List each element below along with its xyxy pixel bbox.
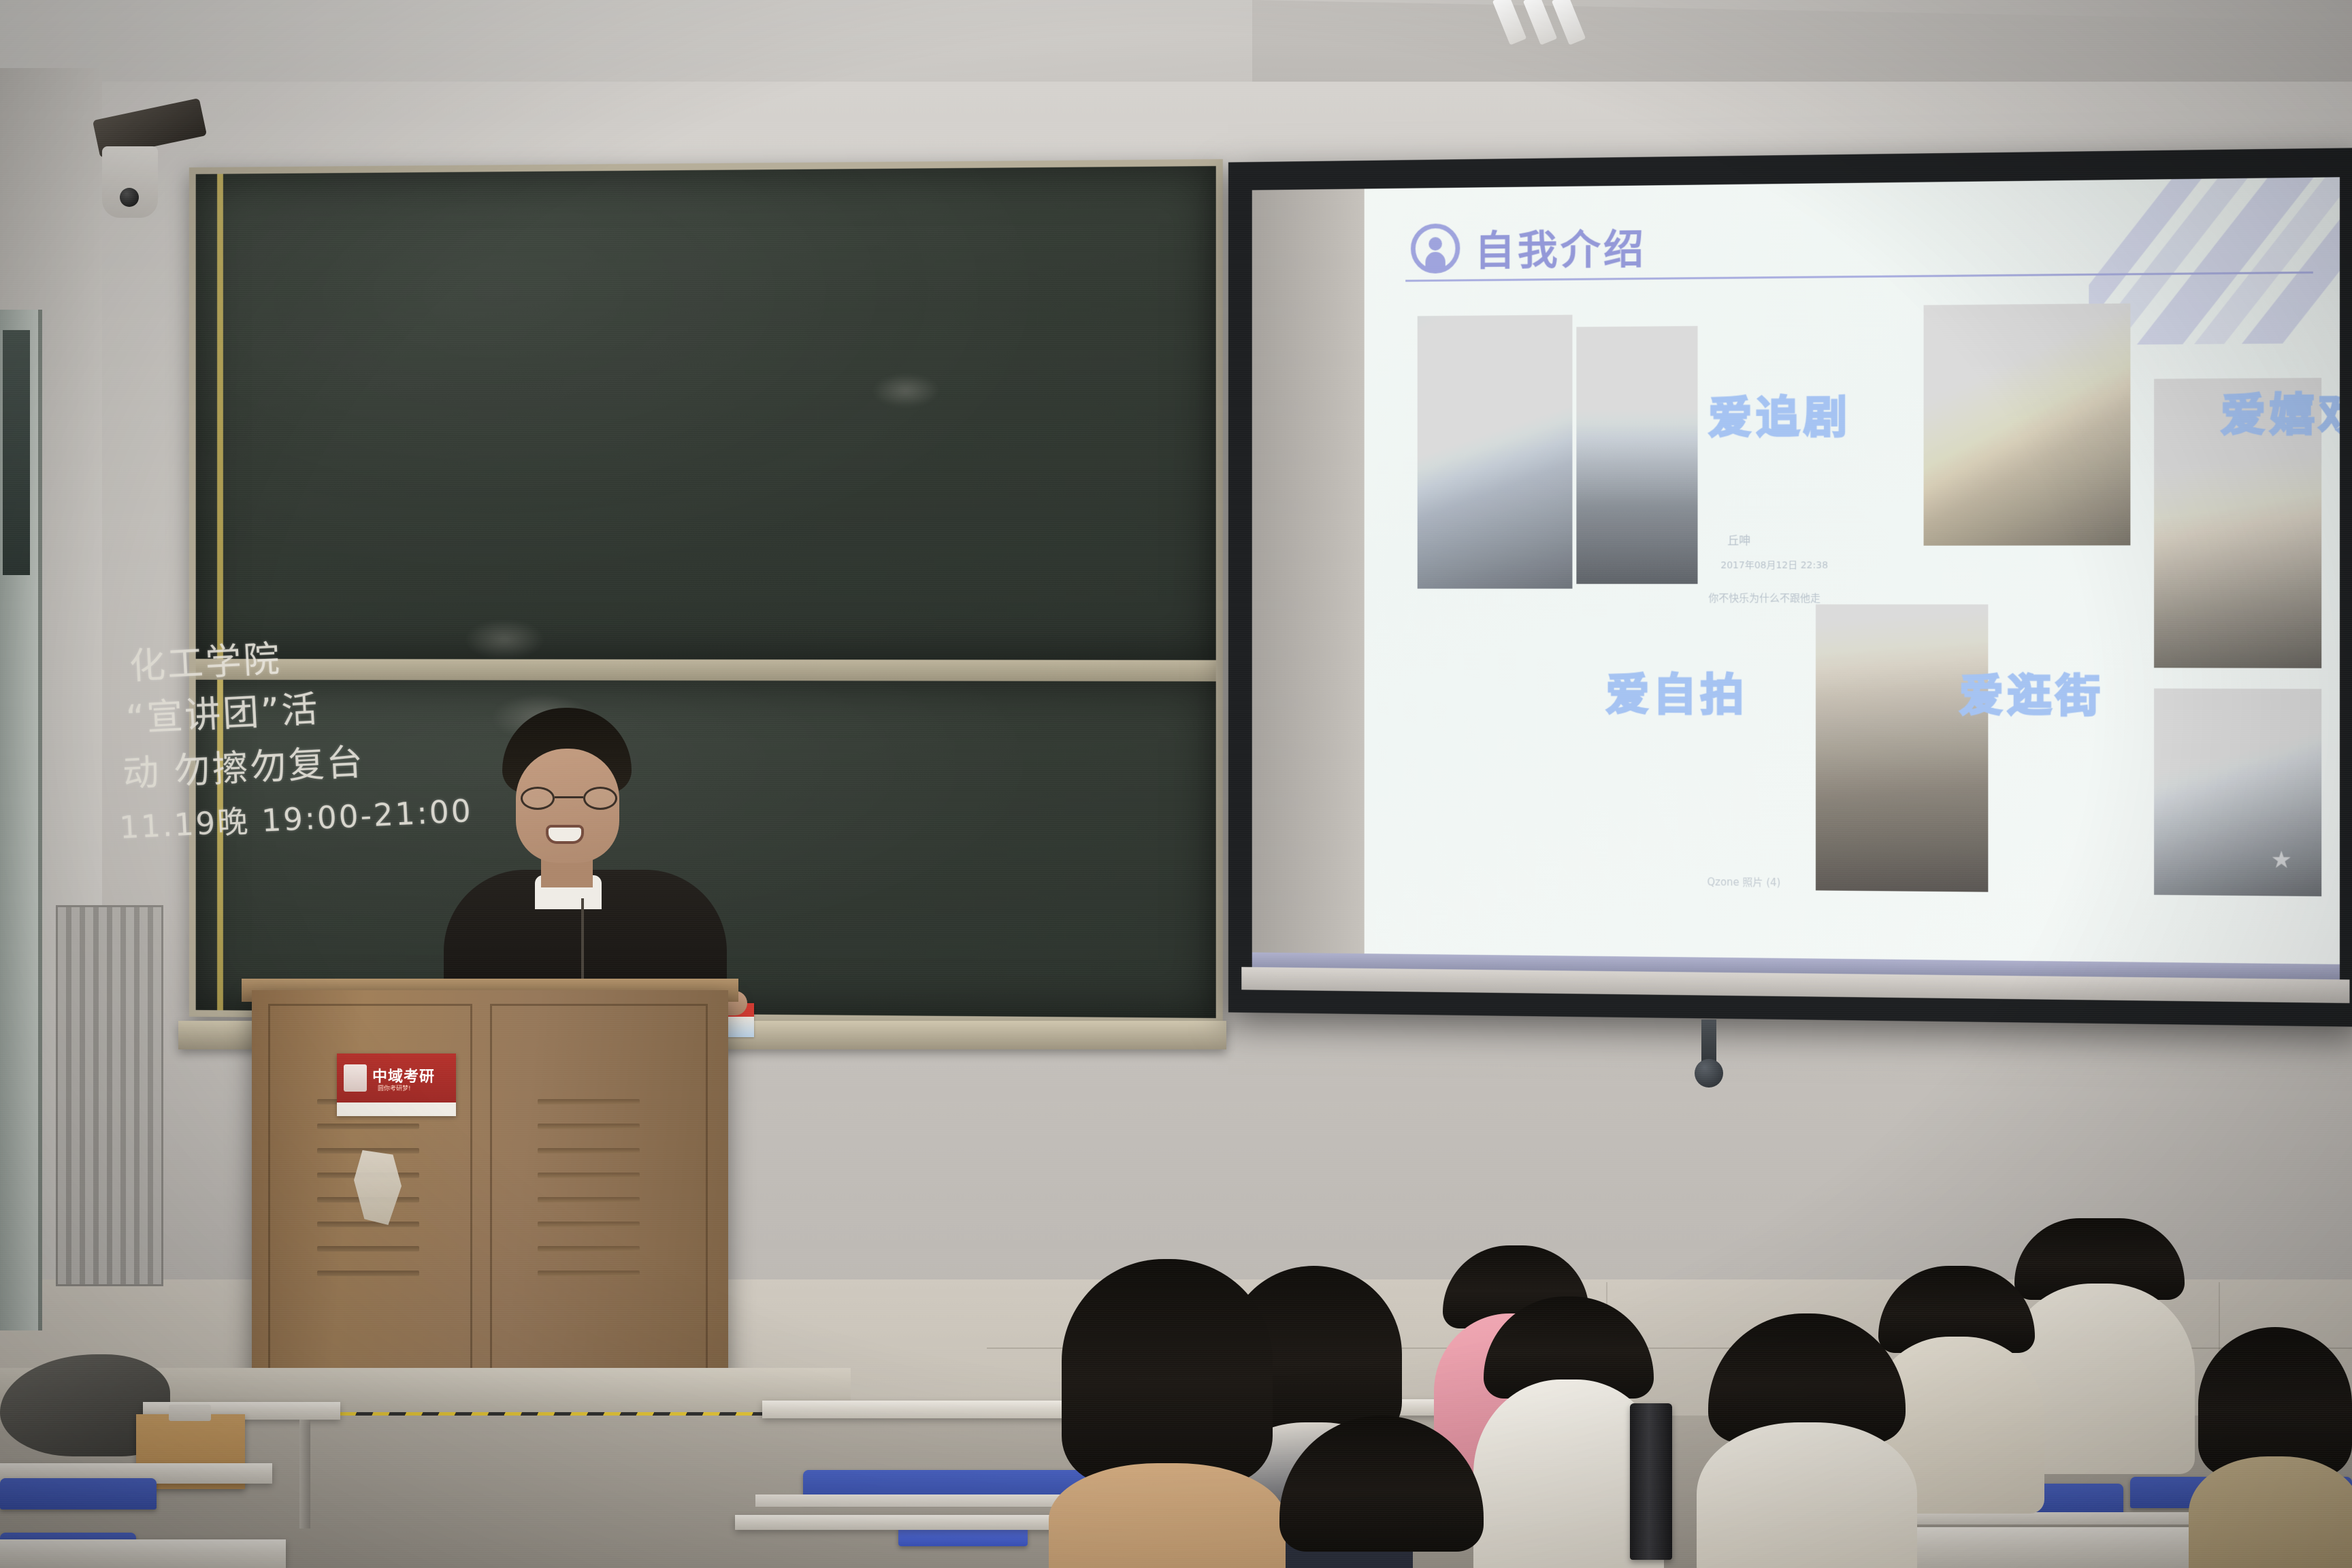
podium-advert-sticker: 中域考研 圆你考研梦! — [337, 1053, 456, 1116]
student-jacket — [1697, 1422, 1918, 1568]
slide-star-watermark: ★ — [2271, 846, 2292, 874]
student-hair — [2198, 1327, 2352, 1477]
student — [1279, 1416, 1484, 1568]
podium-vent — [317, 1246, 419, 1252]
collage-caption-timestamp: 2017年08月12日 22:38 — [1720, 558, 1828, 572]
student-hair — [1062, 1259, 1273, 1484]
speaker-person — [415, 708, 769, 994]
podium-vent — [538, 1124, 640, 1129]
collage-caption-name: 丘呻 — [1727, 531, 1750, 548]
camera-lens-icon — [120, 188, 139, 207]
podium-vent — [538, 1099, 640, 1105]
projector-screen: 自我介绍 爱追剧 爱嬉戏 爱自拍 爱逛街 丘呻 2017年08月12日 22:3… — [1228, 148, 2352, 1027]
door-glass-pane — [3, 330, 30, 575]
speaker-mouth — [549, 828, 581, 841]
student — [1708, 1313, 1906, 1568]
student-jacket — [2189, 1456, 2352, 1568]
podium-vent — [538, 1222, 640, 1227]
sticker-tagline: 圆你考研梦! — [378, 1083, 411, 1092]
podium-vent — [538, 1246, 640, 1252]
podium-vent — [538, 1148, 640, 1154]
screen-pull-handle[interactable] — [1695, 1059, 1723, 1088]
blackboard-upper-panel — [196, 166, 1216, 660]
chalkboard-line-2: “宣讲团”活 — [125, 679, 321, 742]
glasses-icon — [521, 787, 617, 810]
student — [1062, 1259, 1273, 1568]
chalk-guide-line — [217, 174, 223, 659]
collage-label-play: 爱嬉戏 — [2221, 379, 2340, 443]
chalk-smudge — [872, 374, 941, 408]
presentation-slide: 自我介绍 爱追剧 爱嬉戏 爱自拍 爱逛街 丘呻 2017年08月12日 22:3… — [1365, 177, 2340, 964]
collage-photo — [1418, 315, 1573, 589]
wall-radiator — [56, 905, 163, 1286]
slide-footer-caption: Qzone 照片 (4) — [1707, 875, 1780, 889]
black-thermos — [1630, 1403, 1672, 1560]
desk-leg — [299, 1420, 310, 1529]
slide-title: 自我介绍 — [1475, 216, 1646, 277]
podium-vent — [317, 1222, 419, 1227]
student — [1484, 1296, 1654, 1568]
collage-label-selfie: 爱自拍 — [1606, 659, 1748, 722]
blackboard-divider — [196, 659, 1216, 681]
security-camera-icon — [102, 146, 158, 218]
podium-vent — [538, 1197, 640, 1203]
collage-caption-quote: 你不快乐为什么不跟他走 — [1708, 591, 1820, 605]
student — [2198, 1327, 2352, 1568]
collage-photo — [1816, 604, 1988, 892]
student-jacket — [1049, 1463, 1285, 1568]
person-in-circle-icon — [1411, 223, 1460, 274]
collage-label-shopping: 爱逛街 — [1959, 661, 2104, 724]
student-hair — [1279, 1416, 1484, 1552]
projection-surface: 自我介绍 爱追剧 爱嬉戏 爱自拍 爱逛街 丘呻 2017年08月12日 22:3… — [1252, 177, 2340, 964]
podium-vent — [538, 1271, 640, 1276]
calculator[interactable] — [898, 1527, 1028, 1546]
podium-vent — [317, 1271, 419, 1276]
student-desk — [0, 1539, 286, 1568]
podium-vent — [317, 1124, 419, 1129]
slide-header: 自我介绍 — [1411, 216, 1646, 278]
collage-photo — [2154, 689, 2321, 896]
chalk-smudge — [464, 619, 545, 660]
chalkboard-line-1: 化工学院 — [128, 629, 282, 690]
podium-vent — [538, 1173, 640, 1178]
collage-photo — [1576, 326, 1697, 584]
sticker-logo-icon — [344, 1064, 367, 1092]
door-frame — [0, 310, 42, 1330]
photo-collage: 爱追剧 爱嬉戏 爱自拍 爱逛街 丘呻 2017年08月12日 22:38 你不快… — [1405, 301, 2320, 910]
classroom-photo: 化工学院 “宣讲团”活 动 勿擦勿复台 11.19晚 19:00-21:00 — [0, 0, 2352, 1568]
collage-photo — [1924, 304, 2131, 546]
projection-letterbox — [1252, 189, 1377, 953]
box-contents — [169, 1405, 211, 1421]
collage-label-drama: 爱追剧 — [1708, 382, 1851, 445]
podium-panel — [490, 1004, 708, 1426]
student-seat — [0, 1478, 157, 1509]
